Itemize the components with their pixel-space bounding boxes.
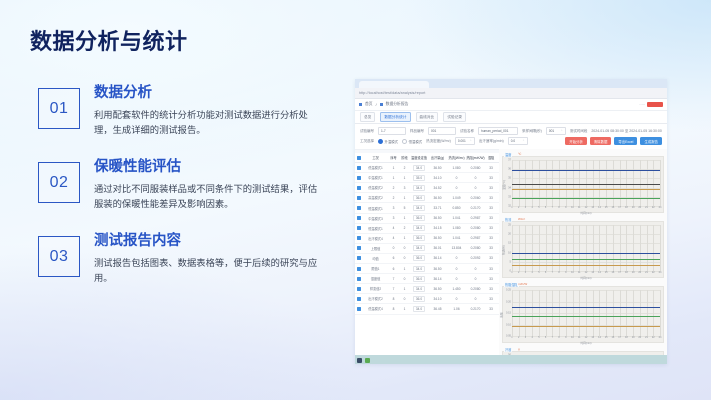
address-text: http://localhost/test/data/analysis/repo… (359, 91, 426, 95)
export-report-button[interactable] (647, 102, 663, 107)
chart-x-tick: 6 (545, 271, 546, 274)
chart-x-tick: 5 (538, 336, 539, 339)
table-cell: 33 (485, 277, 497, 281)
table-cell: 36.50 (428, 196, 447, 200)
chart-x-tick: 12 (585, 336, 588, 339)
chart-gridline-v (525, 290, 526, 336)
chart-gridline-v (660, 225, 661, 271)
row-checkbox[interactable] (357, 246, 361, 250)
table-cell: 34.10 (428, 297, 447, 301)
row-checkbox[interactable] (357, 267, 361, 271)
table-cell: 低温模式1 (363, 165, 388, 170)
chart-y-axis: 373635343332 (504, 160, 512, 206)
table-cell: 33 (485, 267, 497, 271)
breadcrumb-separator: / (376, 103, 377, 107)
radio-off-icon (402, 139, 407, 144)
chart-x-tick: 9 (565, 206, 566, 209)
chart-y-tick: 36 (508, 168, 511, 171)
chart-x-tick: 7 (552, 271, 553, 274)
chart-title: 温度 (504, 152, 512, 157)
chart-series-line (512, 184, 660, 185)
chart-x-tick: 11 (578, 206, 581, 209)
chart-gridline-v (633, 290, 634, 336)
chart-x-tick: 7 (552, 206, 553, 209)
table-cell: 1.049 (447, 196, 466, 200)
table-cell: 0 (399, 277, 410, 281)
row-checkbox[interactable] (357, 166, 361, 170)
tab-overview[interactable]: 总览 (360, 112, 375, 121)
chart-y-tick: 15 (508, 242, 511, 245)
chart-plot-area: 温度(℃)37363534333212345678910111213141516… (512, 160, 660, 206)
chart-x-tick: 13 (591, 206, 594, 209)
cell-boxed-value: 36.0 (413, 215, 425, 221)
row-checkbox[interactable] (357, 256, 361, 260)
table-row[interactable]: 中温模式11135.034.100033 (355, 173, 499, 183)
cell-boxed-value: 36.0 (413, 235, 425, 241)
table-cell: 恒温模式1 (363, 206, 388, 211)
table-cell: 34.15 (428, 226, 447, 230)
cell-boxed-value: 35.0 (413, 175, 425, 181)
row-checkbox[interactable] (357, 186, 361, 190)
action-buttons: 开始分析 清除数据 导出Excel 生成报告 (565, 137, 662, 145)
chart-plot-area: 热阻0.250.200.150.100.05123456789101112131… (512, 290, 660, 336)
table-cell: 0.2092 (466, 256, 485, 260)
table-cell: 4 (388, 226, 399, 230)
chart-x-tick: 17 (618, 206, 621, 209)
table-cell: 0 (466, 186, 485, 190)
chart-unit-tag: m²K/W (517, 282, 528, 286)
chart-x-tick: 21 (645, 206, 648, 209)
chart-x-tick: 10 (571, 271, 574, 274)
cell-boxed-value: 34.0 (413, 306, 425, 312)
item-number-badge: 03 (38, 236, 80, 277)
export-excel-button[interactable]: 导出Excel (614, 137, 637, 145)
interval-value: 001 (549, 129, 554, 133)
table-cell: 8 (388, 297, 399, 301)
chart-y-tick: 0.10 (506, 323, 511, 326)
cell-boxed-value: 34.0 (413, 165, 425, 171)
cell-boxed-value: 34.0 (413, 225, 425, 231)
table-cell: 33.71 (428, 206, 447, 210)
table-cell: 0.2987 (466, 236, 485, 240)
stepper-icon[interactable]: ⌃ (560, 129, 563, 133)
table-cell: 34.0 (410, 165, 428, 171)
table-cell: 36.14 (428, 256, 447, 260)
table-cell: 0 (447, 297, 466, 301)
table-cell: 中温模式3 (363, 216, 388, 221)
item-number-badge: 02 (38, 162, 80, 203)
cell-boxed-value: 36.0 (413, 276, 425, 282)
table-cell: 33 (485, 196, 497, 200)
chart-gridline-v (660, 160, 661, 206)
row-checkbox[interactable] (357, 176, 361, 180)
chart-y-tick: 5 (510, 260, 511, 263)
clear-data-button[interactable]: 清除数据 (590, 137, 612, 145)
table-cell: 36.0 (410, 195, 428, 201)
browser-tab[interactable] (359, 81, 429, 88)
breadcrumb-item-current: 数据分析报告 (386, 102, 409, 107)
chart-series-line (512, 307, 660, 308)
table-cell: 34.0 (410, 205, 428, 211)
chart-x-tick: 13 (591, 336, 594, 339)
chart-gridline-v (613, 290, 614, 336)
data-table[interactable]: 工况 序号 阶段 温度设定值 出汗量(g) 热流(W/m²) 热阻(m²K/W)… (355, 153, 499, 355)
tab-test-records[interactable]: 试验记录 (443, 112, 466, 121)
filter-value-test-no[interactable]: 1-7 (378, 127, 406, 136)
table-row[interactable]: 恒温模式13534.033.710.8500.217033 (355, 203, 499, 213)
table-cell: 1 (399, 307, 410, 311)
chart-x-tick: 2 (518, 206, 519, 209)
table-cell: 出汗模式4 (363, 236, 388, 241)
chart-plot-area: 热流(W)25201510501234567891011121314151617… (512, 225, 660, 271)
tab-data-analysis[interactable]: 数据分析统计 (380, 112, 410, 121)
chart-series-line (512, 198, 660, 199)
filter-label-sample-no: 样品编号 (410, 129, 424, 134)
table-row[interactable]: 低温模式11234.036.501.0800.208033 (355, 163, 499, 173)
row-checkbox[interactable] (357, 236, 361, 240)
radio-constant-mode[interactable]: 恒温模式 (402, 139, 422, 144)
row-checkbox[interactable] (357, 307, 361, 311)
chart-y-tick: 0.05 (506, 335, 511, 338)
chart-y-tick: 0.15 (506, 312, 511, 315)
taskbar-folder-icon[interactable] (365, 358, 370, 363)
filter-value-sample-no[interactable]: 001 (428, 127, 456, 136)
chart-gridline-v (552, 290, 553, 336)
table-cell: 34.0 (410, 306, 428, 312)
chart-y-tick: 35 (508, 177, 511, 180)
table-cell: 33 (485, 216, 497, 220)
table-cell: 低温模式2 (363, 185, 388, 190)
chart-x-tick: 6 (545, 206, 546, 209)
chart-x-tick: 3 (525, 336, 526, 339)
table-row[interactable]: 低温模式22334.034.520033 (355, 183, 499, 193)
item-description: 测试报告包括图表、数据表格等，便于后续的研究与应用。 (94, 256, 326, 286)
cell-boxed-value: 34.0 (413, 205, 425, 211)
table-cell: 1.06 (447, 307, 466, 311)
table-cell: 33 (485, 206, 497, 210)
chart-x-tick: 23 (659, 206, 662, 209)
chart-x-tick: 11 (578, 336, 581, 339)
table-cell: 上限值 (363, 246, 388, 251)
chart-x-tick: 8 (558, 206, 559, 209)
radio-heating-label: 升温模式 (385, 139, 399, 144)
filter-label-time-range: 测试时间段 (570, 129, 588, 134)
page-icon (380, 103, 383, 106)
table-cell: 1.041 (447, 236, 466, 240)
table-cell: 0 (399, 246, 410, 250)
chart-x-tick: 18 (625, 206, 628, 209)
chart-x-tick: 3 (525, 206, 526, 209)
chart-series-line (512, 189, 660, 190)
chart-gridline-v (559, 290, 560, 336)
chart-x-tick: 19 (632, 336, 635, 339)
chart-x-axis-label: 时间(min) (580, 341, 591, 345)
table-cell: 5 (399, 206, 410, 210)
chart-x-tick: 17 (618, 336, 621, 339)
row-checkbox[interactable] (357, 216, 361, 220)
chart-gridline-v (653, 290, 654, 336)
table-cell: 0 (447, 256, 466, 260)
table-cell: 0 (388, 246, 399, 250)
table-cell: 0.2987 (466, 216, 485, 220)
table-cell: 36.50 (428, 267, 447, 271)
table-cell: 36.45 (428, 307, 447, 311)
filter-value-test-name[interactable]: human_period_001 (478, 127, 518, 136)
row-checkbox[interactable] (357, 277, 361, 281)
table-cell: 34.0 (410, 225, 428, 231)
chart-gridline-v (620, 290, 621, 336)
table-cell: 6 (388, 256, 399, 260)
radio-on-icon (378, 139, 383, 144)
cell-boxed-value: 34.0 (413, 286, 425, 292)
numbered-list: 01 数据分析 利用配套软件的统计分析功能对测试数据进行分析处理，生成详细的测试… (38, 86, 338, 308)
table-cell: 6 (388, 267, 399, 271)
col-setpoint: 温度设定值 (410, 155, 428, 160)
table-cell: 36.01 (428, 246, 447, 250)
breadcrumb-item-home[interactable]: 首页 (365, 102, 373, 107)
filter-row-2: 工况选择 升温模式 恒温模式 热流密度(W/m²) 0.001 ⌃ 出汗速率(g (360, 136, 662, 146)
table-cell: 1 (399, 236, 410, 240)
table-cell: 中温模式1 (363, 175, 388, 180)
stepper-icon[interactable]: ⌃ (522, 139, 525, 143)
chart-x-tick: 21 (645, 271, 648, 274)
chart-y-tick: 10 (508, 251, 511, 254)
tab-curve-compare[interactable]: 曲线对比 (416, 112, 439, 121)
browser-tab-strip[interactable] (355, 79, 667, 88)
table-row[interactable]: 低温模式48134.036.451.060.217033 (355, 304, 499, 314)
stepper-icon[interactable]: ⌃ (469, 139, 472, 143)
select-all-checkbox[interactable] (357, 156, 361, 160)
chart-x-tick: 19 (632, 271, 635, 274)
item-heading: 测试报告内容 (94, 234, 326, 250)
col-thermal-resistance: 热阻(m²K/W) (466, 155, 485, 160)
table-cell: 36.14 (428, 277, 447, 281)
table-row[interactable]: 恒温模式14234.034.151.0800.208033 (355, 224, 499, 234)
filter-value-sweat-rate[interactable]: 0.0 ⌃ (508, 137, 528, 146)
chart-x-tick: 7 (552, 336, 553, 339)
chart-x-axis-label: 时间(min) (580, 276, 591, 280)
chart-y-axis: 0.250.200.150.100.05 (504, 290, 512, 336)
app-window: 首页 / 数据分析报告 ····· 总览 数据分析统计 曲线对比 试验记录 试验… (355, 99, 667, 364)
table-row[interactable]: 中温模式33136.036.501.0410.298733 (355, 214, 499, 224)
table-cell: 34.0 (410, 245, 428, 251)
chart-gridline-v (512, 290, 513, 336)
chart-gridline-v (519, 290, 520, 336)
table-cell: 2 (388, 196, 399, 200)
row-checkbox[interactable] (357, 206, 361, 210)
chart-x-tick: 12 (585, 206, 588, 209)
chart-x-tick: 22 (652, 206, 655, 209)
page-title: 数据分析与统计 (30, 24, 188, 56)
table-cell: 0 (466, 297, 485, 301)
table-cell: 2 (399, 166, 410, 170)
table-cell: 1.450 (447, 287, 466, 291)
table-row[interactable]: 上限值0034.036.0113.8040.208033 (355, 244, 499, 254)
chart-x-tick: 5 (538, 271, 539, 274)
table-cell: 低温模式4 (363, 306, 388, 311)
col-moisture: 湿阻 (485, 155, 497, 160)
chart-y-axis: 2520151050 (504, 225, 512, 271)
table-cell: 高温模式2 (363, 195, 388, 200)
filter-label-test-no: 试验编号 (360, 129, 374, 134)
table-cell: 33 (485, 256, 497, 260)
chart-x-tick: 8 (558, 336, 559, 339)
col-condition: 工况 (363, 155, 388, 160)
row-checkbox[interactable] (357, 287, 361, 291)
chart-x-tick: 12 (585, 271, 588, 274)
chart-panel: 温度℃温度(℃)37363534333212345678910111213141… (502, 156, 664, 213)
chart-x-tick: 20 (638, 206, 641, 209)
table-cell: 33 (485, 226, 497, 230)
table-cell: 2 (399, 226, 410, 230)
table-body: 低温模式11234.036.501.0800.208033中温模式11135.0… (355, 163, 499, 314)
chart-x-tick: 4 (531, 271, 532, 274)
chart-x-tick: 16 (612, 336, 615, 339)
chart-x-tick: 18 (625, 271, 628, 274)
chart-title: 汗液 (504, 347, 512, 352)
table-cell: 34.0 (410, 266, 428, 272)
col-heatflux: 热流(W/m²) (447, 155, 466, 160)
col-index: 序号 (388, 155, 399, 160)
table-cell: 2 (388, 186, 399, 190)
table-cell: 1 (399, 267, 410, 271)
cell-boxed-value: 36.0 (413, 255, 425, 261)
table-row[interactable]: 高温模式22136.036.501.0490.206033 (355, 193, 499, 203)
heat-flux-value: 0.001 (458, 139, 466, 143)
radio-heating-mode[interactable]: 升温模式 (378, 139, 398, 144)
browser-address-bar[interactable]: http://localhost/test/data/analysis/repo… (355, 88, 667, 99)
cell-boxed-value: 36.0 (413, 296, 425, 302)
chart-y-tick: 33 (508, 195, 511, 198)
table-cell: 0 (466, 277, 485, 281)
table-cell: 34.0 (410, 286, 428, 292)
chart-gridline-v (647, 290, 648, 336)
table-row[interactable]: 限值16134.036.500033 (355, 264, 499, 274)
chart-gridline-v (660, 290, 661, 336)
chart-x-tick: 4 (531, 336, 532, 339)
chart-y-tick: 34 (508, 186, 511, 189)
chart-x-tick: 18 (625, 336, 628, 339)
chart-title: 热流 (504, 217, 512, 222)
chart-unit-tag: g (517, 347, 521, 351)
table-cell: 0.2080 (466, 246, 485, 250)
chart-gridline-v (606, 290, 607, 336)
table-cell: 33 (485, 176, 497, 180)
table-cell: 0 (399, 297, 410, 301)
generate-report-button[interactable]: 生成报告 (640, 137, 662, 145)
table-cell: 0 (447, 186, 466, 190)
filter-row-1: 试验编号 1-7 样品编号 001 试验名称 human_period_001 … (360, 126, 662, 136)
chart-x-tick: 13 (591, 271, 594, 274)
table-row[interactable]: 样变值27134.036.501.4500.208033 (355, 284, 499, 294)
table-cell: 34.10 (428, 176, 447, 180)
chart-x-tick: 14 (598, 206, 601, 209)
start-analysis-button[interactable]: 开始分析 (565, 137, 587, 145)
filter-label-heat-flux: 热流密度(W/m²) (426, 139, 451, 144)
table-cell: 1.080 (447, 166, 466, 170)
table-cell: 出汗模式2 (363, 296, 388, 301)
chart-y-tick: 0.25 (506, 289, 511, 292)
chart-x-tick: 23 (659, 271, 662, 274)
table-cell: 1 (388, 176, 399, 180)
table-cell: 3 (399, 186, 410, 190)
table-cell: 限值1 (363, 266, 388, 271)
chart-x-tick: 16 (612, 206, 615, 209)
table-cell: 35.0 (410, 175, 428, 181)
chart-series-line (512, 170, 660, 171)
chart-x-tick: 1 (511, 206, 512, 209)
table-cell: 1 (388, 166, 399, 170)
table-cell: 8 (388, 307, 399, 311)
chart-x-tick: 15 (605, 271, 608, 274)
table-row[interactable]: 均值6036.036.1400.209233 (355, 254, 499, 264)
table-row[interactable]: 出汗模式28036.034.100033 (355, 294, 499, 304)
filter-value-interval[interactable]: 001 ⌃ (546, 127, 566, 136)
col-stage: 阶段 (399, 155, 410, 160)
table-cell: 36.0 (410, 296, 428, 302)
embedded-screenshot: http://localhost/test/data/analysis/repo… (355, 79, 667, 364)
item-description: 利用配套软件的统计分析功能对测试数据进行分析处理，生成详细的测试报告。 (94, 108, 326, 138)
table-cell: 3 (388, 206, 399, 210)
row-checkbox[interactable] (357, 196, 361, 200)
filter-value-time-range[interactable]: 2024-01-05 08:30:00 至 2024-01-05 16:30:0… (591, 129, 661, 134)
chart-x-tick: 16 (612, 271, 615, 274)
table-cell: 湿度值 (363, 276, 388, 281)
chart-series-line (512, 316, 660, 317)
chart-gridline-v (626, 290, 627, 336)
filter-value-heat-flux[interactable]: 0.001 ⌃ (455, 137, 475, 146)
table-header-row: 工况 序号 阶段 温度设定值 出汗量(g) 热流(W/m²) 热阻(m²K/W)… (355, 153, 499, 163)
taskbar-app-icon[interactable] (357, 358, 362, 363)
chart-y-tick: 37 (508, 159, 511, 162)
chart-gridline-v (586, 290, 587, 336)
chart-x-tick: 4 (531, 206, 532, 209)
chart-y-axis-label: 热阻 (500, 312, 504, 317)
table-cell: 33 (485, 246, 497, 250)
chart-x-tick: 17 (618, 271, 621, 274)
table-cell: 0.2060 (466, 196, 485, 200)
table-row[interactable]: 湿度值7036.036.140033 (355, 274, 499, 284)
chart-y-tick: 25 (508, 224, 511, 227)
cell-boxed-value: 36.0 (413, 195, 425, 201)
table-cell: 7 (388, 287, 399, 291)
charts-panel: 温度℃温度(℃)37363534333212345678910111213141… (499, 149, 667, 355)
chart-x-tick: 15 (605, 336, 608, 339)
menu-icon[interactable] (359, 103, 362, 106)
item-heading: 保暖性能评估 (94, 160, 326, 176)
chart-gridline-v (640, 290, 641, 336)
chart-x-tick: 5 (538, 206, 539, 209)
chart-series-line (512, 259, 660, 260)
table-cell: 0.2170 (466, 206, 485, 210)
slide-root: 数据分析与统计 01 数据分析 利用配套软件的统计分析功能对测试数据进行分析处理… (0, 0, 711, 400)
table-cell: 0.2170 (466, 307, 485, 311)
table-cell: 1 (399, 287, 410, 291)
table-cell: 样变值2 (363, 286, 388, 291)
chart-x-tick: 9 (565, 271, 566, 274)
table-row[interactable]: 出汗模式44136.036.501.0410.298733 (355, 234, 499, 244)
table-cell: 33 (485, 236, 497, 240)
chart-gridline-v (579, 290, 580, 336)
chart-unit-tag: ℃ (517, 152, 522, 156)
chart-panel: 热阻湿阻m²K/W热阻0.250.200.150.100.05123456789… (502, 286, 664, 343)
row-checkbox[interactable] (357, 226, 361, 230)
chart-x-tick: 2 (518, 336, 519, 339)
row-checkbox[interactable] (357, 297, 361, 301)
chart-series-line (512, 265, 660, 266)
table-cell: 0.2080 (466, 166, 485, 170)
filter-label-mode: 工况选择 (360, 139, 374, 144)
